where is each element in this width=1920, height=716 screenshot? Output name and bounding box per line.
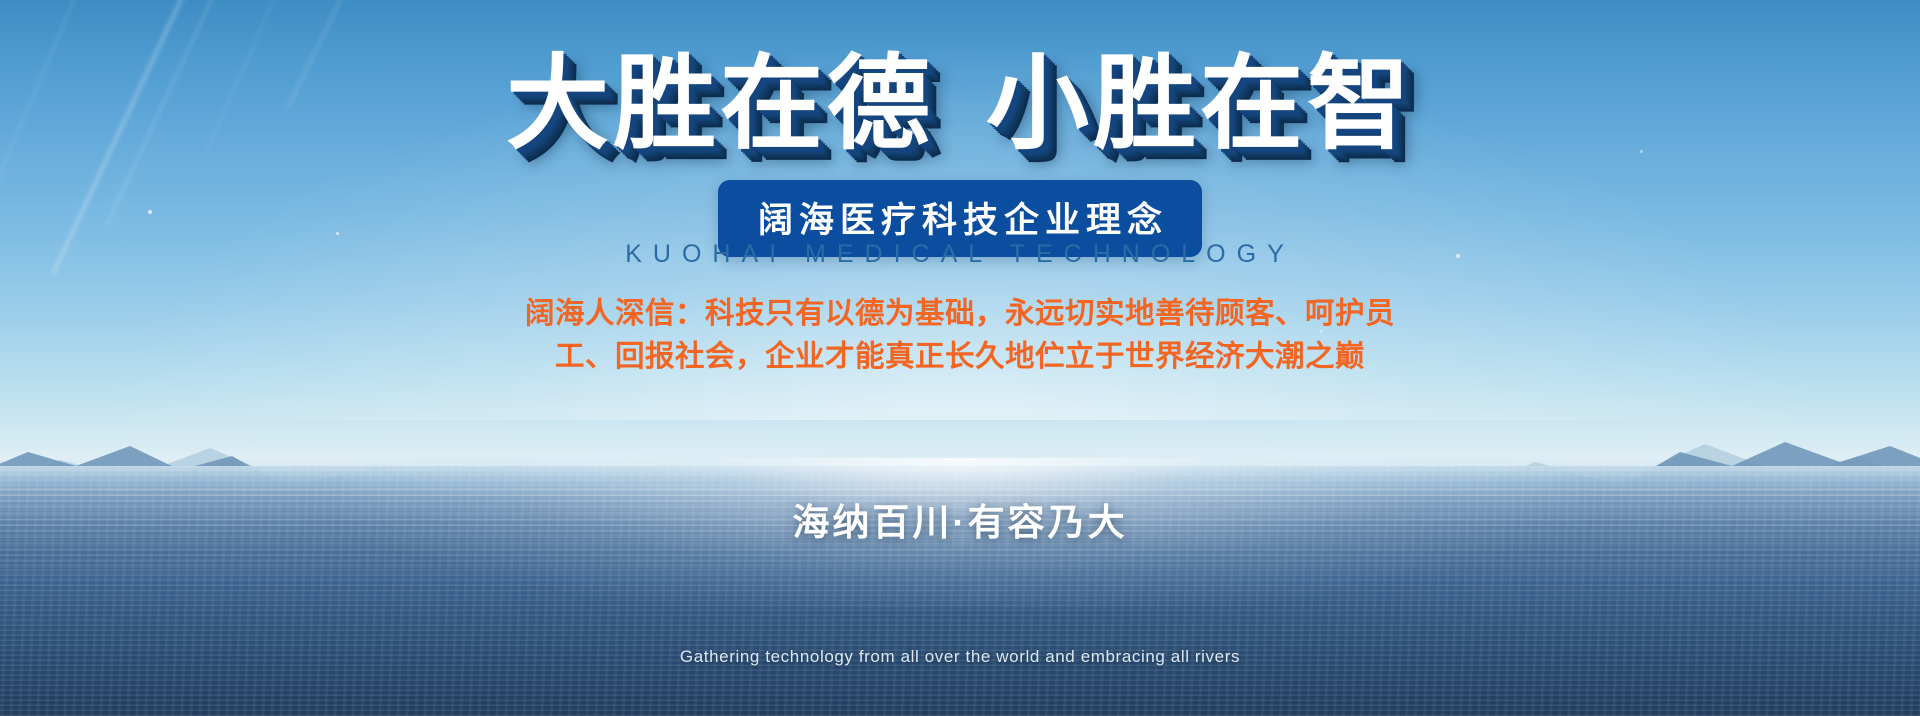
slogan-line-2: 工、回报社会，企业才能真正长久地伫立于世界经济大潮之巅	[490, 335, 1430, 378]
hero-banner: 大胜在德小胜在智 阔海医疗科技企业理念 KUOHAI MEDICAL TECHN…	[0, 0, 1920, 716]
banner-content: 大胜在德小胜在智 阔海医疗科技企业理念 KUOHAI MEDICAL TECHN…	[0, 0, 1920, 716]
slogan-line-1: 阔海人深信：科技只有以德为基础，永远切实地善待顾客、呵护员	[490, 292, 1430, 335]
page-title: 大胜在德小胜在智	[0, 50, 1920, 158]
main-title-part1: 大胜在德	[506, 46, 934, 161]
sea-caption-chinese: 海纳百川·有容乃大	[0, 492, 1920, 546]
sea-caption-english: Gathering technology from all over the w…	[0, 647, 1920, 667]
slogan-paragraph: 阔海人深信：科技只有以德为基础，永远切实地善待顾客、呵护员 工、回报社会，企业才…	[490, 292, 1430, 378]
company-english-name: KUOHAI MEDICAL TECHNOLOGY	[0, 240, 1920, 269]
main-title-part2: 小胜在智	[986, 46, 1414, 161]
